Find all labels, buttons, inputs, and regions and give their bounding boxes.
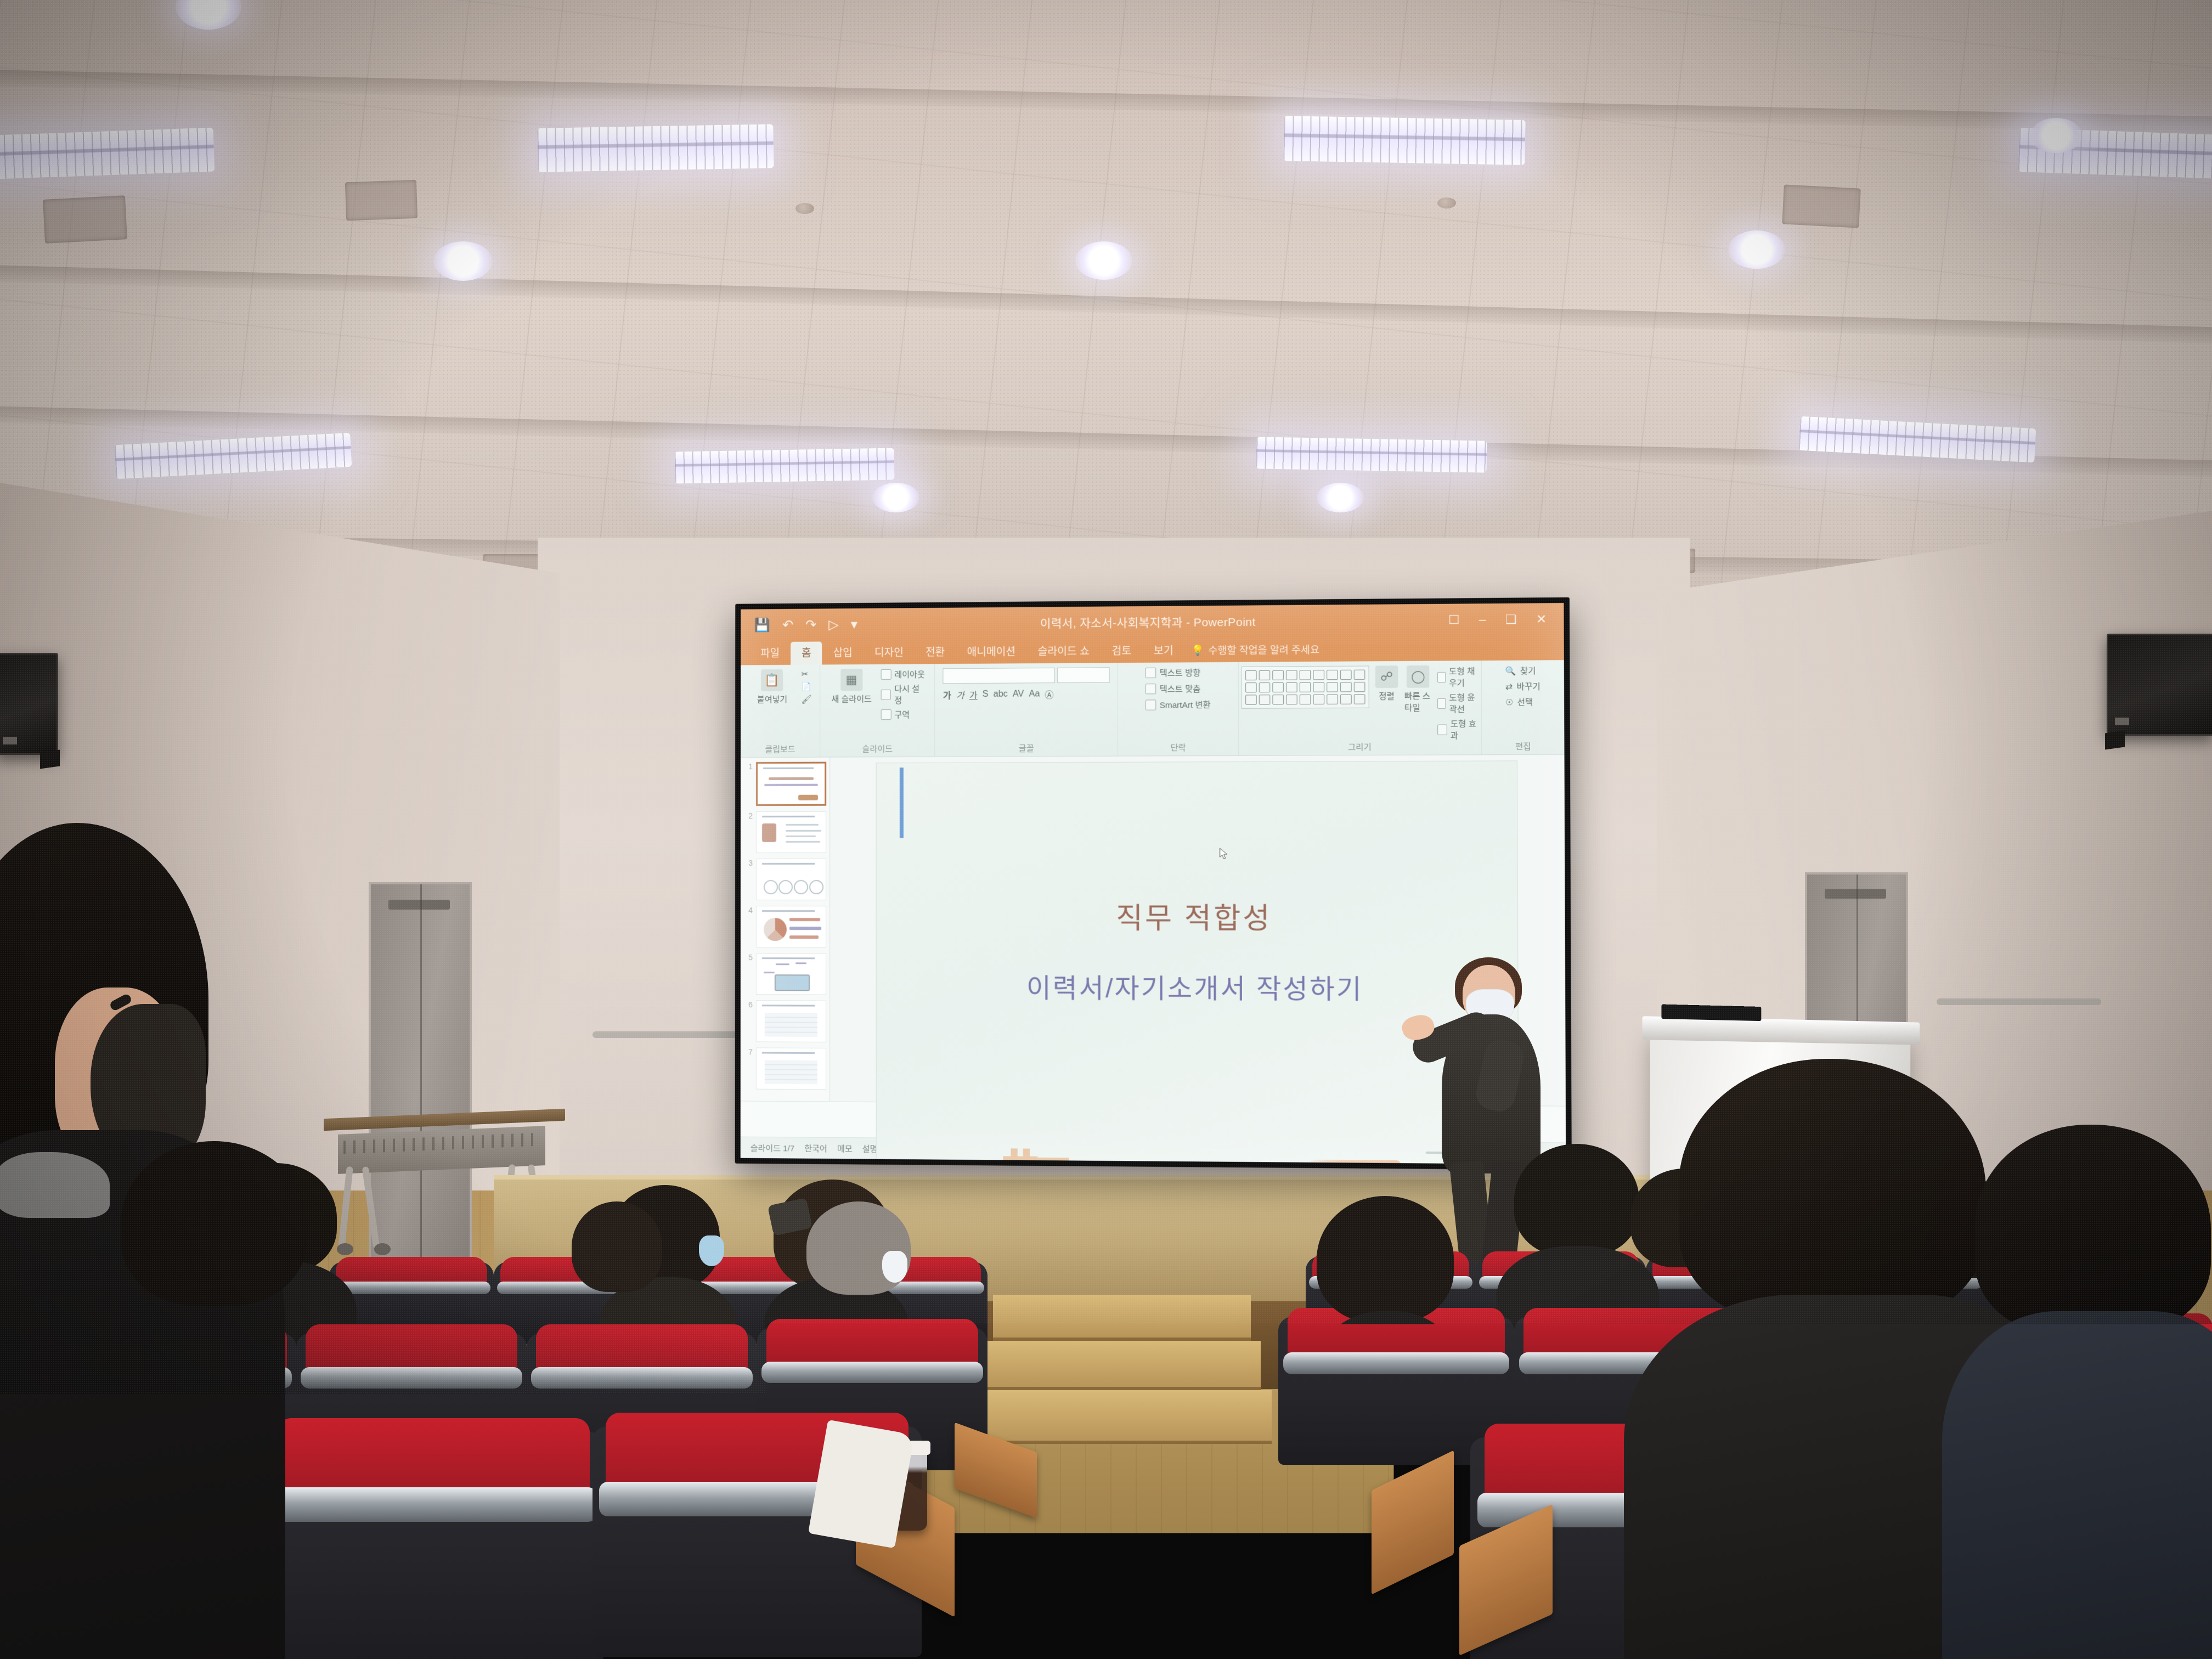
ceiling-vent [345,180,417,221]
group-label-font: 글꼴 [935,742,1118,754]
mouse-cursor-icon [1220,848,1228,860]
slide-thumbnail-4[interactable]: 4 [744,906,826,947]
tab-view[interactable]: 보기 [1143,639,1185,663]
thumb-preview-5 [756,953,826,995]
audience-member [1306,1196,1470,1481]
align-text-button[interactable]: 텍스트 맞춤 [1145,683,1211,695]
layout-label: 레이아웃 [894,668,925,680]
slide-indicator: 슬라이드 1/7 [751,1142,794,1154]
speaker-badge [2115,718,2129,725]
ceiling-downlight [1317,483,1364,512]
slide-thumbnail-1[interactable]: 1 [744,762,826,806]
sprinkler-head [795,203,814,214]
italic-button[interactable]: 가 [956,688,964,701]
shape-effects-button[interactable]: 도형 효과 [1438,718,1479,741]
handrail-right [1937,998,2101,1005]
scissors-icon: ✂ [802,669,809,679]
text-direction-label: 텍스트 방향 [1160,667,1201,679]
shape-outline-icon [1437,698,1446,708]
thumb-number-7: 7 [744,1047,753,1089]
align-text-label: 텍스트 맞춤 [1160,683,1201,695]
tab-file[interactable]: 파일 [749,642,791,665]
thumb-preview-1 [756,762,826,806]
strikethrough-button[interactable]: abc [994,690,1008,699]
smartart-icon [1145,699,1156,710]
stage-steps [993,1295,1251,1476]
tab-review[interactable]: 검토 [1101,640,1142,663]
language-indicator[interactable]: 한국어 [804,1142,827,1154]
thumb-preview-4 [756,906,826,947]
ceiling-downlight [2030,118,2083,153]
hand-holding-key-icon [1003,1148,1070,1164]
search-icon: 🔍 [1505,665,1516,675]
layout-button[interactable]: 레이아웃 [881,668,927,680]
section-icon [881,709,891,720]
speaker-badge [3,737,17,744]
arrange-button[interactable]: ☍ 정렬 [1374,665,1398,702]
group-label-paragraph: 단락 [1118,742,1238,754]
text-direction-icon [1145,668,1156,678]
ceiling-light-panel [1283,116,1525,165]
lightbulb-icon: 💡 [1191,644,1204,656]
tab-insert[interactable]: 삽입 [822,641,864,665]
tab-design[interactable]: 디자인 [864,641,915,664]
quick-styles-button[interactable]: ◯ 빠른 스타일 [1404,665,1432,714]
thumb-preview-2 [756,811,826,853]
layout-icon [881,669,891,680]
tab-animations[interactable]: 애니메이션 [956,640,1026,664]
ribbon[interactable]: 📋 붙여넣기 ✂ 📄 🖌 클립보드 [741,660,1564,758]
window-buttons[interactable]: ☐ – ❑ ✕ [1448,612,1564,627]
slide-thumbnail-2[interactable]: 2 [744,811,826,853]
thumb-number-2: 2 [744,811,753,853]
tab-home[interactable]: 홈 [791,642,822,665]
ceiling-downlight [433,241,493,281]
change-case-button[interactable]: Aa [1029,689,1040,699]
tell-me-search[interactable]: 💡 수행할 작업을 알려 주세요 [1184,639,1326,662]
select-icon: ☉ [1505,697,1513,707]
lecture-hall-photo: 💾 ↶ ↷ ▷ ▾ 이력서, 자소서-사회복지학과 - PowerPoint ☐… [0,0,2212,1659]
ribbon-group-font[interactable]: 가 가 가 S abc AV Aa Ⓐ 글꼴 [935,663,1119,757]
slide-thumbnail-7[interactable]: 7 [744,1047,826,1090]
face-mask [699,1235,724,1266]
notes-toggle-button[interactable]: 메모 [837,1142,853,1154]
ceiling-downlight [872,483,919,512]
text-direction-button[interactable]: 텍스트 방향 [1145,667,1211,679]
new-slide-icon: ▦ [840,669,862,691]
find-label: 찾기 [1520,665,1536,677]
minimize-icon[interactable]: – [1479,612,1486,627]
copy-button[interactable]: 📄 [802,682,812,692]
seat[interactable] [263,1432,603,1659]
cut-button[interactable]: ✂ [802,669,812,679]
font-color-button[interactable]: Ⓐ [1045,687,1053,701]
document-title: 이력서, 자소서-사회복지학과 - PowerPoint [741,611,1564,633]
ribbon-group-clipboard[interactable]: 📋 붙여넣기 ✂ 📄 🖌 클립보드 [741,665,820,758]
ceiling-light-panel [675,448,895,484]
shadow-button[interactable]: S [983,690,989,699]
slide-thumbnail-6[interactable]: 6 [744,1000,826,1042]
find-button[interactable]: 🔍찾기 [1505,665,1541,677]
ceiling-downlight [1728,230,1785,269]
character-spacing-button[interactable]: AV [1013,690,1024,699]
ribbon-group-drawing[interactable]: ☍ 정렬 ◯ 빠른 스타일 도형 채우기 도형 윤곽선 도형 효과 [1239,661,1482,755]
ceiling-light-panel [537,124,774,172]
section-button[interactable]: 구역 [881,709,927,720]
arrange-icon: ☍ [1375,665,1398,688]
tell-me-label: 수행할 작업을 알려 주세요 [1209,642,1320,657]
ribbon-group-editing[interactable]: 🔍찾기 ⇄바꾸기 ☉선택 편집 [1482,660,1565,754]
audience-member [121,1141,318,1372]
ceiling-light-panel [0,128,215,180]
restore-icon[interactable]: ❑ [1505,612,1517,627]
brush-icon: 🖌 [802,695,812,704]
shape-fill-label: 도형 채우기 [1449,665,1479,689]
ceiling-vent [1782,184,1861,228]
podium-microphone [1661,1005,1761,1022]
table-caster [374,1243,391,1255]
right-wall-speaker [2107,634,2212,736]
shape-fill-button[interactable]: 도형 채우기 [1437,665,1479,689]
tab-transitions[interactable]: 전환 [915,641,956,664]
ribbon-group-slides[interactable]: ▦ 새 슬라이드 레이아웃 다시 설정 구역 슬라이드 [820,664,935,757]
speaker-bracket [40,749,60,769]
replace-label: 바꾸기 [1516,680,1540,692]
select-button[interactable]: ☉선택 [1505,696,1541,708]
table-leg [362,1166,380,1249]
paste-label: 붙여넣기 [757,693,787,705]
slide-title-line-1: 직무 적합성 [876,895,1517,937]
left-wall-speaker [0,653,58,755]
underline-button[interactable]: 가 [969,688,978,701]
thumb-number-6: 6 [744,1000,753,1042]
format-painter-button[interactable]: 🖌 [802,695,812,704]
powerpoint-title-bar: 💾 ↶ ↷ ▷ ▾ 이력서, 자소서-사회복지학과 - PowerPoint ☐… [741,603,1564,641]
hand-illustration [1304,1160,1401,1165]
reset-label: 다시 설정 [894,682,927,706]
ribbon-display-options-icon[interactable]: ☐ [1448,613,1460,628]
thumb-preview-3 [756,859,826,900]
select-label: 선택 [1517,696,1533,708]
quick-styles-icon: ◯ [1407,665,1430,688]
font-size-combobox[interactable] [1057,667,1110,683]
paste-icon: 📋 [761,669,783,691]
thumb-number-4: 4 [744,906,753,947]
copy-icon: 📄 [802,682,812,692]
speaker-bracket [2105,730,2125,749]
door-closer [1825,889,1886,899]
font-name-combobox[interactable] [943,668,1056,684]
shape-outline-button[interactable]: 도형 윤곽선 [1437,691,1479,715]
slide-thumbnail-3[interactable]: 3 [744,859,826,900]
quick-styles-label: 빠른 스타일 [1404,690,1432,714]
replace-icon: ⇄ [1505,681,1513,691]
slide-thumbnail-5[interactable]: 5 [744,953,826,995]
thumb-number-1: 1 [744,762,753,806]
close-icon[interactable]: ✕ [1536,612,1547,627]
face-mask [882,1251,907,1283]
new-slide-label: 새 슬라이드 [831,693,871,704]
slide-thumbnail-pane[interactable]: 1 2 [741,758,830,1102]
thumb-preview-6 [756,1000,826,1042]
ceiling-downlight [1075,241,1132,280]
convert-smartart-button[interactable]: SmartArt 변환 [1145,699,1211,711]
align-text-icon [1145,684,1156,694]
reset-icon [881,689,891,699]
shape-outline-label: 도형 윤곽선 [1449,691,1479,715]
smartart-label: SmartArt 변환 [1160,699,1211,711]
shapes-gallery[interactable] [1241,665,1369,708]
slide-accent-bar [899,768,903,838]
new-slide-button[interactable]: ▦ 새 슬라이드 [828,669,875,705]
ceiling-light-panel [1256,437,1487,472]
foreground-audience-member-right-2 [1953,1125,2212,1659]
thumb-preview-7 [756,1047,826,1090]
sprinkler-head [1437,198,1456,208]
group-label-drawing: 그리기 [1239,741,1481,753]
shape-effects-icon [1438,724,1447,735]
section-label: 구역 [894,709,910,720]
ceiling-vent [43,195,127,244]
thumb-number-5: 5 [744,953,753,995]
paste-button[interactable]: 📋 붙여넣기 [749,669,796,705]
group-label-slides: 슬라이드 [820,743,935,755]
group-label-editing: 편집 [1482,740,1564,752]
reset-button[interactable]: 다시 설정 [881,682,927,706]
arrange-label: 정렬 [1379,690,1395,702]
shape-fill-icon [1437,672,1446,682]
shirt-collar [0,1152,110,1218]
group-label-clipboard: 클립보드 [741,743,820,755]
door-closer [388,900,450,910]
thumb-number-3: 3 [744,859,753,900]
shape-effects-label: 도형 효과 [1451,718,1479,741]
replace-button[interactable]: ⇄바꾸기 [1505,680,1541,692]
ribbon-group-paragraph[interactable]: 텍스트 방향 텍스트 맞춤 SmartArt 변환 단락 [1118,662,1239,756]
bold-button[interactable]: 가 [943,688,951,701]
tab-slideshow[interactable]: 슬라이드 쇼 [1026,640,1101,663]
